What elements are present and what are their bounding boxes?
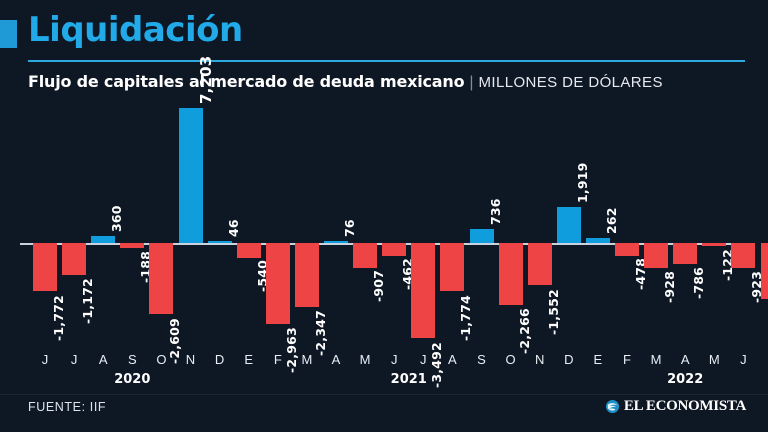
x-axis-tick-19: E <box>586 352 610 367</box>
bar-negative <box>644 243 668 268</box>
brand-name: EL ECONOMISTA <box>624 398 746 415</box>
x-axis-tick-25: J <box>761 352 768 367</box>
bar-value-label: -1,552 <box>546 289 561 335</box>
bar-negative <box>382 243 406 256</box>
x-axis-tick-6: D <box>208 352 232 367</box>
bar-positive <box>179 108 203 243</box>
infographic-root: Liquidación Flujo de capitales al mercad… <box>0 0 768 432</box>
bar-negative <box>673 243 697 264</box>
x-axis-tick-15: S <box>470 352 494 367</box>
x-axis-tick-18: D <box>557 352 581 367</box>
bar-value-label: -928 <box>662 271 677 303</box>
bar-negative <box>731 243 755 268</box>
bar-negative <box>499 243 523 305</box>
page-title: Liquidación <box>28 13 243 47</box>
chart-subtitle: Flujo de capitales al mercado de deuda m… <box>28 72 663 93</box>
bar-negative <box>149 243 173 314</box>
x-axis-tick-22: A <box>673 352 697 367</box>
bar-negative <box>761 243 768 299</box>
bar-value-label: 76 <box>342 219 357 237</box>
bar-negative <box>440 243 464 291</box>
bar-value-label: 360 <box>109 206 124 233</box>
bar-negative <box>702 243 726 246</box>
year-label-2022: 2022 <box>650 372 720 387</box>
x-axis-tick-12: J <box>382 352 406 367</box>
x-axis-tick-9: M <box>295 352 319 367</box>
x-axis-tick-11: M <box>353 352 377 367</box>
brand-logo: EL ECONOMISTA <box>605 398 746 415</box>
bar-positive <box>557 207 581 243</box>
bar-value-label: -1,774 <box>458 295 473 341</box>
bar-value-label: 1,919 <box>575 162 590 203</box>
globe-swirl-icon <box>605 399 620 414</box>
x-axis-tick-5: N <box>179 352 203 367</box>
chart-subtitle-separator: | <box>469 74 473 91</box>
bar-positive <box>586 238 610 243</box>
bar-negative <box>295 243 319 307</box>
x-axis-tick-17: N <box>528 352 552 367</box>
footer-divider <box>0 394 768 395</box>
bar-negative <box>411 243 435 338</box>
bar-value-label: 262 <box>604 207 619 234</box>
x-axis-tick-20: F <box>615 352 639 367</box>
x-axis-tick-16: O <box>499 352 523 367</box>
bar-value-label: 736 <box>488 199 503 226</box>
bar-value-label: -2,266 <box>517 308 532 354</box>
x-axis-tick-1: J <box>62 352 86 367</box>
bar-chart-plot-area: -1,772-1,172360-188-2,6097,20346-540-2,9… <box>0 100 768 350</box>
x-axis-tick-7: E <box>237 352 261 367</box>
year-label-2020: 2020 <box>97 372 167 387</box>
bar-value-label: 46 <box>226 219 241 237</box>
source-note: FUENTE: IIF <box>28 400 106 414</box>
bar-negative <box>62 243 86 275</box>
bar-positive <box>208 241 232 243</box>
chart-subtitle-main: Flujo de capitales al mercado de deuda m… <box>28 72 464 91</box>
bar-value-label: -1,172 <box>80 279 95 325</box>
x-axis-tick-3: S <box>120 352 144 367</box>
x-axis-tick-24: J <box>731 352 755 367</box>
x-axis-tick-21: M <box>644 352 668 367</box>
bar-negative <box>120 243 144 248</box>
bar-value-label: -907 <box>371 270 386 302</box>
bar-positive <box>324 241 348 243</box>
x-axis-month-labels: JJASONDEFMAMJJASONDEFMAMJJ <box>0 352 768 372</box>
bar-value-label: -1,772 <box>51 295 66 341</box>
x-axis-tick-14: A <box>440 352 464 367</box>
x-axis-tick-4: O <box>149 352 173 367</box>
bar-negative <box>237 243 261 258</box>
bar-positive <box>91 236 115 243</box>
x-axis-tick-13: J <box>411 352 435 367</box>
x-axis-tick-10: A <box>324 352 348 367</box>
x-axis-tick-2: A <box>91 352 115 367</box>
accent-square-decoration <box>0 20 17 48</box>
bar-negative <box>266 243 290 324</box>
title-divider <box>28 60 745 62</box>
x-axis-tick-0: J <box>33 352 57 367</box>
bar-value-label: -2,347 <box>313 311 328 357</box>
x-axis-tick-23: M <box>702 352 726 367</box>
bar-positive <box>470 229 494 243</box>
bar-value-label: 7,203 <box>197 56 215 104</box>
bar-negative <box>528 243 552 285</box>
x-axis-tick-8: F <box>266 352 290 367</box>
chart-subtitle-units: MILLONES DE DÓLARES <box>479 74 663 91</box>
bar-value-label: -786 <box>691 267 706 299</box>
year-label-2021: 2021 <box>374 372 444 387</box>
bar-negative <box>33 243 57 291</box>
bar-negative <box>615 243 639 256</box>
bar-negative <box>353 243 377 268</box>
